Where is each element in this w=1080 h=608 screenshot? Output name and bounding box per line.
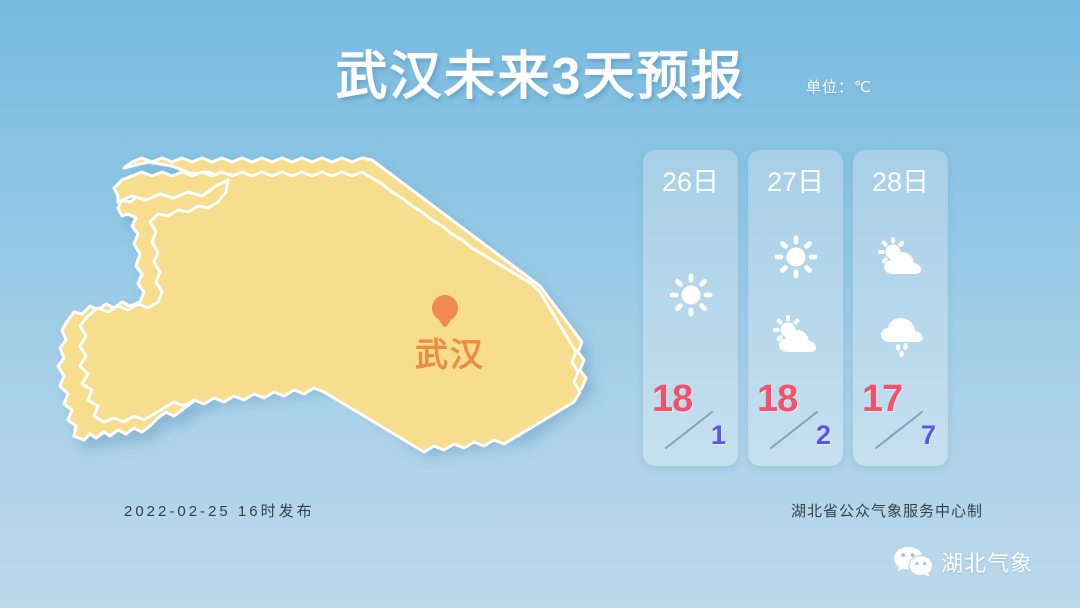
temperature-separator <box>662 408 718 452</box>
forecast-date: 26日 <box>643 160 738 199</box>
organization-text: 湖北省公众气象服务中心制 <box>791 500 983 521</box>
wechat-badge: 湖北气象 <box>893 545 1033 579</box>
forecast-icon-zone <box>853 212 948 372</box>
forecast-date: 27日 <box>748 160 843 199</box>
page-title: 武汉未来3天预报 <box>0 34 1080 109</box>
forecast-card-list: 26日 <box>643 150 948 466</box>
temperature-separator <box>872 408 928 452</box>
wechat-icon <box>893 545 933 579</box>
forecast-card[interactable]: 27日 <box>748 150 843 466</box>
issue-time-text: 2022-02-25 16时发布 <box>124 500 315 521</box>
forecast-date: 28日 <box>853 160 948 199</box>
forecast-icon-zone <box>643 212 738 372</box>
temperature-low: 7 <box>921 420 936 451</box>
city-label: 武汉 <box>405 328 495 376</box>
forecast-card[interactable]: 26日 <box>643 150 738 466</box>
map-pin-icon <box>432 295 458 329</box>
wechat-account-name: 湖北气象 <box>941 546 1033 578</box>
temperature-range: 17 7 <box>853 378 948 466</box>
forecast-icon-zone <box>748 212 843 372</box>
weather-icon-slot <box>643 264 738 326</box>
hubei-province-map <box>52 150 592 480</box>
weather-icon-slot <box>748 226 843 288</box>
sunny-icon <box>772 233 820 281</box>
forecast-card[interactable]: 28日 <box>853 150 948 466</box>
weather-icon-slot <box>748 304 843 366</box>
weather-icon-slot <box>853 304 948 366</box>
partly-cloudy-icon <box>770 314 822 356</box>
unit-note: 单位：℃ <box>806 76 872 97</box>
temperature-low: 2 <box>816 420 831 451</box>
partly-cloudy-icon <box>875 236 927 278</box>
weather-forecast-poster: 武汉未来3天预报 单位：℃ 武汉 26日 <box>0 0 1080 608</box>
rain-icon <box>876 312 926 358</box>
temperature-range: 18 1 <box>643 378 738 466</box>
temperature-low: 1 <box>711 420 726 451</box>
temperature-range: 18 2 <box>748 378 843 466</box>
temperature-separator <box>767 408 823 452</box>
weather-icon-slot <box>853 226 948 288</box>
sunny-icon <box>667 271 715 319</box>
